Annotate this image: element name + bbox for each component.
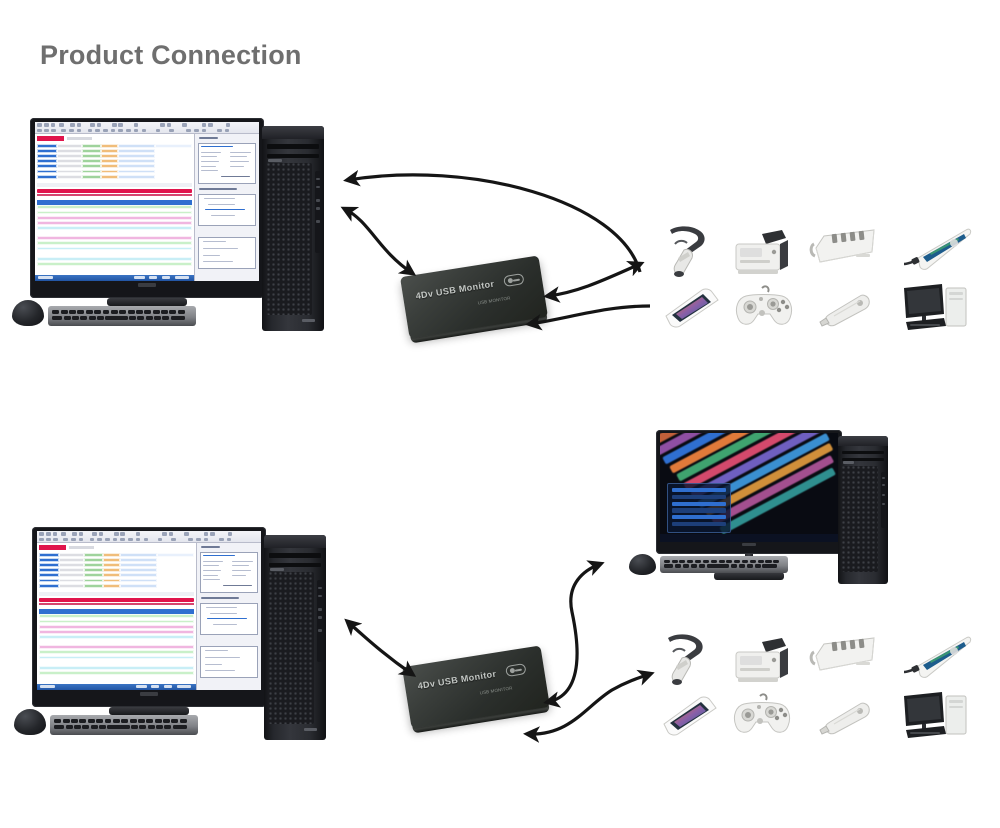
tower-brand-logo <box>270 568 284 571</box>
mouse-top[interactable] <box>12 300 44 326</box>
tower-front-ports <box>315 171 321 253</box>
usb-hub-icon-bottom <box>808 634 878 680</box>
keyboard-top[interactable] <box>48 306 196 326</box>
mouse-body <box>14 709 46 735</box>
grid-red-separator <box>37 189 193 193</box>
table-header-row <box>37 200 193 205</box>
workstation-monitor-top <box>30 118 264 298</box>
monitor-brand-logo <box>138 283 157 287</box>
desktop-taskbar[interactable] <box>660 534 838 542</box>
smartphone-icon-bottom <box>896 632 972 682</box>
tower-mesh-grille <box>842 466 878 573</box>
keyboard-bottom[interactable] <box>50 715 198 735</box>
secondary-keyboard[interactable] <box>660 556 788 573</box>
usb-flash-drive-icon-top <box>816 292 872 328</box>
tablet-icon-top <box>662 286 722 330</box>
usb-adapter-device-bottom: 4Dv USB Monitor USB MONITOR <box>402 645 550 728</box>
adapter-logo-icon <box>503 273 524 287</box>
tower-brand-logo <box>843 461 854 463</box>
tower-mesh-grille <box>269 572 314 724</box>
game-controller-icon-top <box>732 282 796 330</box>
tower-badge <box>304 728 318 731</box>
arrow-adapter-peripherals-top <box>548 264 640 296</box>
mouse-body <box>12 300 44 326</box>
app-toolbar <box>37 531 261 543</box>
spreadsheet-application <box>35 122 259 280</box>
monitor-brand-logo <box>140 692 159 696</box>
mouse-body <box>629 554 656 575</box>
adapter-top-face: 4Dv USB Monitor USB MONITOR <box>402 645 550 728</box>
smartphone-icon-top <box>896 224 972 274</box>
tablet-icon-bottom <box>660 694 720 738</box>
spreadsheet-grid <box>35 134 194 281</box>
product-connection-diagram: Product Connection <box>0 0 1000 828</box>
tower-brand-logo <box>268 159 282 162</box>
usb-adapter-device-top: 4Dv USB Monitor USB MONITOR <box>400 255 548 338</box>
adapter-sub-label: USB MONITOR <box>479 685 512 695</box>
usb-flash-drive-icon-bottom <box>816 700 872 736</box>
tower-top-panel <box>838 436 888 446</box>
page-title: Product Connection <box>40 40 302 71</box>
adapter-top-face: 4Dv USB Monitor USB MONITOR <box>400 255 548 338</box>
app-status-bar <box>35 275 194 281</box>
properties-panel <box>194 134 259 281</box>
spreadsheet-application <box>37 531 261 689</box>
monitor-brand-logo <box>742 543 757 546</box>
app-toolbar <box>35 122 259 134</box>
tower-pc-bottom <box>264 535 326 740</box>
barcode-scanner-icon-top <box>658 222 714 280</box>
monitor-screen-spreadsheet <box>37 531 261 689</box>
game-controller-icon-bottom <box>730 690 794 738</box>
adapter-label: 4Dv USB Monitor <box>417 669 497 691</box>
desktop-dialog-panel <box>667 483 731 533</box>
workstation-monitor-bottom <box>32 527 266 707</box>
barcode-scanner-icon-bottom <box>656 630 712 688</box>
tower-badge <box>302 319 316 322</box>
grid-red-separator <box>39 598 195 602</box>
tower-front-ports <box>317 580 323 662</box>
tower-mesh-grille <box>267 163 312 315</box>
tower-front-ports <box>881 472 886 528</box>
arrow-peripherals-to-adapter-top <box>530 306 650 324</box>
tower-pc-top <box>262 126 324 331</box>
monitor-stand-base-top <box>107 298 187 306</box>
desktop-computer-icon-top <box>898 282 972 334</box>
tower-top-panel <box>264 535 326 548</box>
arrow-peripherals-to-pc-top <box>348 175 640 272</box>
properties-panel <box>196 543 261 690</box>
monitor-stand-base-bottom <box>109 707 189 715</box>
monitor-screen-spreadsheet <box>35 122 259 280</box>
arrow-adapter-to-pc2 <box>548 564 600 702</box>
secondary-monitor-stand-base <box>714 572 784 580</box>
desktop-computer-icon-bottom <box>898 690 972 742</box>
arrow-pc-adapter-top <box>345 209 412 273</box>
receipt-printer-icon-bottom <box>730 636 792 686</box>
adapter-sub-label: USB MONITOR <box>477 295 510 305</box>
spreadsheet-grid <box>37 543 196 690</box>
adapter-logo-icon <box>505 663 526 677</box>
receipt-printer-icon-top <box>730 228 792 278</box>
app-status-bar <box>37 684 196 690</box>
mouse-bottom[interactable] <box>14 709 46 735</box>
adapter-label: 4Dv USB Monitor <box>415 279 495 301</box>
secondary-monitor <box>656 430 842 554</box>
table-header-row <box>39 609 195 614</box>
desktop-wallpaper <box>660 433 838 542</box>
tower-top-panel <box>262 126 324 139</box>
monitor-screen-wallpaper <box>660 433 838 542</box>
secondary-mouse[interactable] <box>629 554 656 575</box>
secondary-tower-pc <box>838 436 888 584</box>
usb-hub-icon-top <box>808 226 878 272</box>
